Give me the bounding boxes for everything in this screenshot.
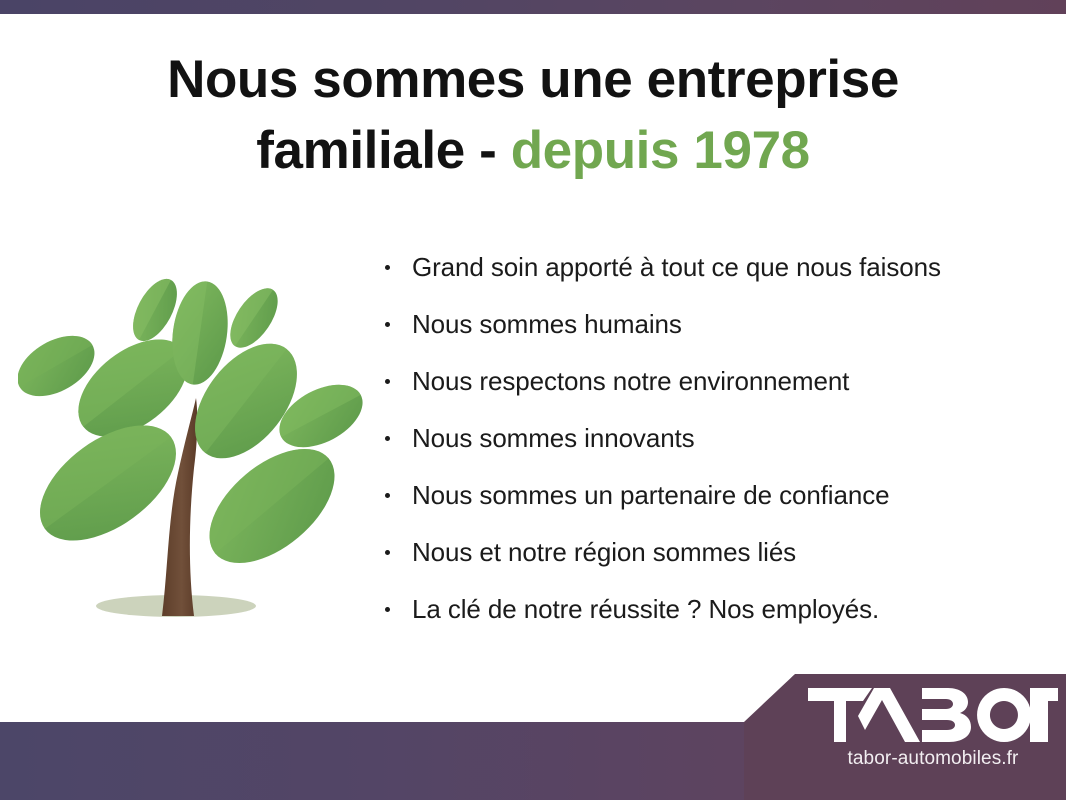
list-item-label: La clé de notre réussite ? Nos employés. [412, 594, 879, 624]
list-item: Nous sommes humains [378, 305, 1038, 362]
page-title-line-2: familiale - depuis 1978 [0, 115, 1066, 186]
list-item-label: Nous sommes humains [412, 309, 682, 339]
list-item-label: Nous sommes innovants [412, 423, 695, 453]
tree-illustration [18, 268, 370, 630]
value-bullet-list: Grand soin apporté à tout ce que nous fa… [378, 248, 1038, 647]
list-item: Nous sommes innovants [378, 419, 1038, 476]
leaf-shape [221, 280, 287, 355]
list-item-label: Nous et notre région sommes liés [412, 537, 796, 567]
list-item-label: Grand soin apporté à tout ce que nous fa… [412, 252, 941, 282]
top-accent-bar [0, 0, 1066, 14]
brand-logo-panel: tabor-automobiles.fr [744, 674, 1066, 800]
list-item: La clé de notre réussite ? Nos employés. [378, 590, 1038, 647]
page-title-line-1: Nous sommes une entreprise [0, 44, 1066, 115]
list-item-label: Nous sommes un partenaire de confiance [412, 480, 889, 510]
list-item: Nous sommes un partenaire de confiance [378, 476, 1038, 533]
list-item-label: Nous respectons notre environnement [412, 366, 849, 396]
bullet-dot-icon [385, 607, 390, 612]
bullet-dot-icon [385, 436, 390, 441]
bullet-dot-icon [385, 550, 390, 555]
slide-canvas: Nous sommes une entreprise familiale - d… [0, 0, 1066, 800]
bullet-dot-icon [385, 493, 390, 498]
bullet-dot-icon [385, 379, 390, 384]
list-item: Nous respectons notre environnement [378, 362, 1038, 419]
page-title-accent: depuis 1978 [511, 121, 810, 180]
tabor-wordmark-icon [808, 688, 1058, 742]
list-item: Grand soin apporté à tout ce que nous fa… [378, 248, 1038, 305]
bullet-dot-icon [385, 265, 390, 270]
bullet-dot-icon [385, 322, 390, 327]
brand-tagline: tabor-automobiles.fr [744, 748, 1066, 770]
list-item: Nous et notre région sommes liés [378, 533, 1038, 590]
page-title: Nous sommes une entreprise familiale - d… [0, 44, 1066, 186]
tree-trunk-shape [162, 398, 197, 616]
page-title-line-2-plain: familiale - [256, 121, 496, 180]
